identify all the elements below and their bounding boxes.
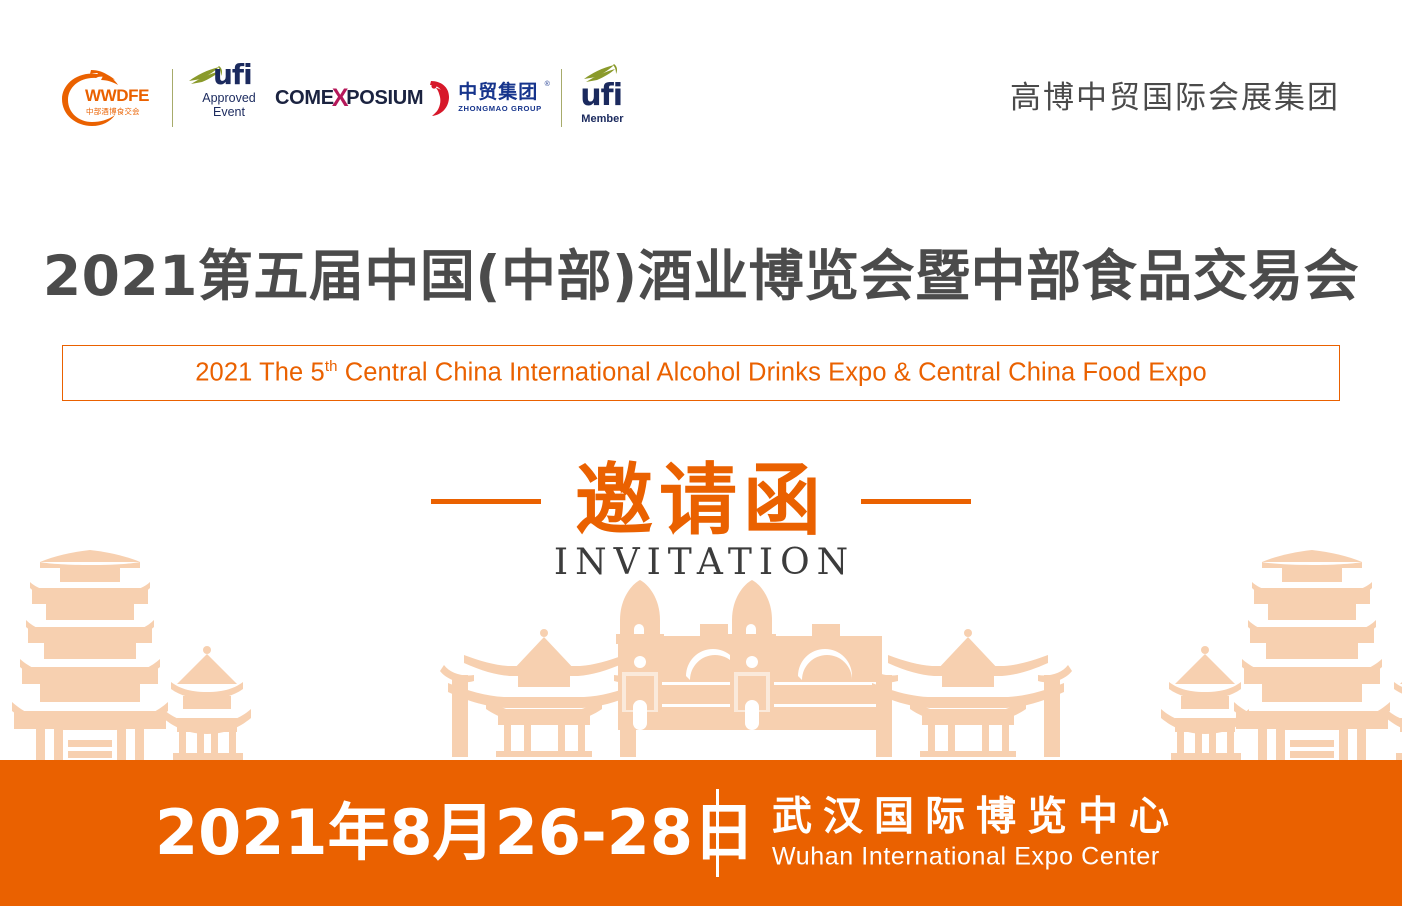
comexposium-part2: POSIUM bbox=[346, 87, 423, 110]
logo-divider bbox=[561, 69, 562, 127]
skyline-left-pavilion bbox=[163, 646, 251, 760]
invitation-poster: WWDFE 中部酒博食交会 ufi Approved Event CO bbox=[0, 0, 1402, 906]
invitation-title-cn: 邀请函 bbox=[575, 462, 827, 540]
page-title-cn: 2021第五届中国(中部)酒业博览会暨中部食品交易会 bbox=[0, 246, 1402, 307]
venue-name-cn: 武汉国际博览中心 bbox=[772, 793, 1180, 839]
partner-logo-bar: WWDFE 中部酒博食交会 ufi Approved Event CO bbox=[58, 52, 632, 144]
logo-divider bbox=[172, 69, 173, 127]
ufi-member-logo: ufi Member bbox=[576, 63, 632, 133]
venue-name-en: Wuhan International Expo Center bbox=[772, 841, 1180, 872]
ufi-wordmark: ufi bbox=[213, 61, 252, 89]
page-title-en-box: 2021 The 5th Central China International… bbox=[62, 345, 1340, 401]
zhongmao-cn-name: 中贸集团 bbox=[458, 83, 542, 102]
comexposium-part1: COME bbox=[275, 87, 334, 110]
title-en-rest: Central China International Alcohol Drin… bbox=[338, 359, 1207, 387]
skyline-right-gate bbox=[864, 629, 1072, 757]
zhongmao-text: 中贸集团 ZHONGMAO GROUP ® bbox=[458, 83, 542, 113]
skyline-right-pavilion bbox=[1161, 646, 1249, 760]
event-date: 2021年8月26-28日 bbox=[155, 802, 755, 864]
invitation-rule-left bbox=[431, 499, 541, 504]
skyline-left-gate bbox=[440, 629, 648, 757]
zhongmao-dragon-icon bbox=[427, 79, 453, 117]
page-title-en: 2021 The 5th Central China International… bbox=[195, 358, 1206, 388]
footer-bar: 2021年8月26-28日 武汉国际博览中心 Wuhan Internation… bbox=[0, 760, 1402, 906]
event-venue: 武汉国际博览中心 Wuhan International Expo Center bbox=[772, 793, 1180, 872]
header: WWDFE 中部酒博食交会 ufi Approved Event CO bbox=[0, 52, 1402, 144]
title-en-ordinal: th bbox=[325, 358, 338, 375]
wwdfe-logo: WWDFE 中部酒博食交会 bbox=[58, 65, 158, 131]
ufi-approved-event-logo: ufi Approved Event bbox=[187, 63, 271, 133]
ufi-member-caption: Member bbox=[581, 113, 623, 125]
ufi-member-wordmark: ufi bbox=[580, 81, 622, 111]
skyline-center-hall-right bbox=[728, 580, 882, 730]
footer-divider bbox=[716, 789, 719, 877]
wwdfe-logo-subtext: 中部酒博食交会 bbox=[86, 106, 140, 117]
registered-mark-icon: ® bbox=[545, 81, 550, 88]
skyline-left-pagoda bbox=[12, 550, 168, 760]
invitation-row: 邀请函 bbox=[431, 462, 971, 540]
zhongmao-group-logo: 中贸集团 ZHONGMAO GROUP ® bbox=[427, 75, 547, 121]
organizer-name: 高博中贸国际会展集团 bbox=[1010, 72, 1340, 117]
ufi-caption-line2: Event bbox=[187, 105, 271, 119]
title-en-prefix: 2021 The 5 bbox=[195, 359, 325, 387]
skyline-right-pagoda bbox=[1234, 550, 1390, 760]
comexposium-logo: COME X POSIUM bbox=[275, 84, 423, 113]
city-skyline-illustration bbox=[0, 550, 1402, 760]
ufi-caption-line1: Approved bbox=[187, 91, 271, 105]
skyline-edge-right bbox=[1386, 646, 1402, 760]
invitation-rule-right bbox=[861, 499, 971, 504]
zhongmao-en-name: ZHONGMAO GROUP bbox=[458, 104, 542, 113]
ufi-approved-event-caption: Approved Event bbox=[187, 91, 271, 120]
wwdfe-logo-text: WWDFE bbox=[85, 87, 149, 104]
